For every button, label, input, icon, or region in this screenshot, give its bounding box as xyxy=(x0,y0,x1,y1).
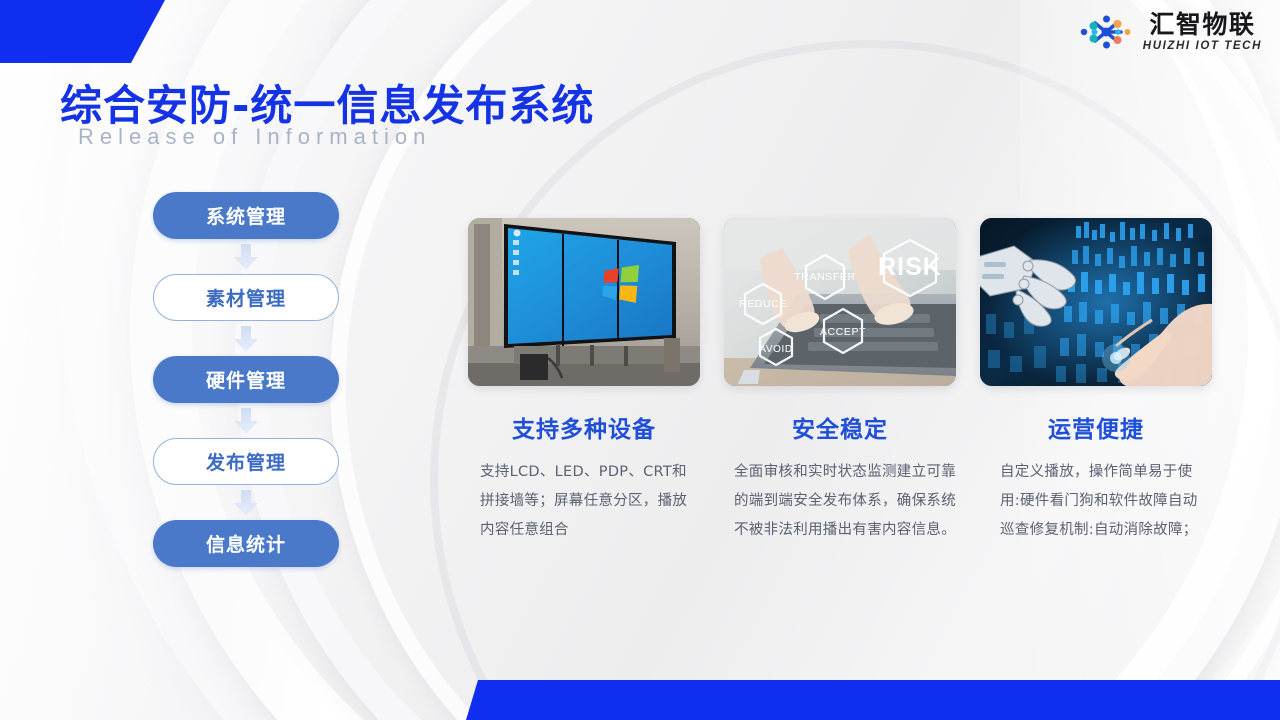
flow-step-label: 发布管理 xyxy=(206,448,286,475)
brand-name-cn: 汇智物联 xyxy=(1149,12,1255,37)
flow-step-information-statistics[interactable]: 信息统计 xyxy=(153,520,339,567)
feature-card: RISK TRANSFER REDUCE ACCEPT AVOID 安全稳定 全… xyxy=(724,218,956,545)
flow-step-label: 硬件管理 xyxy=(206,366,286,393)
video-wall-image xyxy=(468,218,700,386)
corner-band-bottom-right xyxy=(466,680,1280,720)
svg-text:AVOID: AVOID xyxy=(759,344,792,355)
flow-arrow-3 xyxy=(153,403,339,438)
arrow-down-icon xyxy=(233,407,259,435)
risk-management-image: RISK TRANSFER REDUCE ACCEPT AVOID xyxy=(724,218,956,386)
brand-name-en: HUIZHI IOT TECH xyxy=(1143,41,1262,53)
molecule-network-icon xyxy=(1078,12,1134,52)
process-flow: 系统管理 素材管理 硬件管理 发布管理 xyxy=(153,192,339,567)
flow-step-material-management[interactable]: 素材管理 xyxy=(153,274,339,321)
svg-text:ACCEPT: ACCEPT xyxy=(820,326,866,338)
flow-step-label: 信息统计 xyxy=(206,530,286,557)
arrow-down-icon xyxy=(233,489,259,517)
feature-card: 运营便捷 自定义播放，操作简单易于使用:硬件看门狗和软件故障自动巡查修复机制:自… xyxy=(980,218,1212,545)
flow-arrow-1 xyxy=(153,239,339,274)
feature-card-body: 自定义播放，操作简单易于使用:硬件看门狗和软件故障自动巡查修复机制:自动消除故障… xyxy=(980,458,1212,545)
page-subtitle: Release of Information xyxy=(78,124,431,150)
risk-hexagons-illustration: RISK TRANSFER REDUCE ACCEPT AVOID xyxy=(724,218,956,386)
arrow-down-icon xyxy=(233,243,259,271)
feature-card: 支持多种设备 支持LCD、LED、PDP、CRT和拼接墙等；屏幕任意分区，播放内… xyxy=(468,218,700,545)
brand-logo-text: 汇智物联 HUIZHI IOT TECH xyxy=(1143,12,1262,53)
flow-arrow-4 xyxy=(153,485,339,520)
feature-card-body: 全面审核和实时状态监测建立可靠的端到端安全发布体系，确保系统不被非法利用播出有害… xyxy=(724,458,956,545)
feature-card-list: 支持多种设备 支持LCD、LED、PDP、CRT和拼接墙等；屏幕任意分区，播放内… xyxy=(468,218,1212,545)
robot-human-hand-illustration xyxy=(980,218,1212,386)
video-wall-illustration xyxy=(468,218,700,386)
svg-text:TRANSFER: TRANSFER xyxy=(794,271,855,283)
slide-canvas: 汇智物联 HUIZHI IOT TECH 综合安防-统一信息发布系统 Relea… xyxy=(0,0,1280,720)
feature-card-title: 支持多种设备 xyxy=(468,410,700,444)
flow-step-label: 系统管理 xyxy=(206,202,286,229)
flow-arrow-2 xyxy=(153,321,339,356)
flow-step-hardware-management[interactable]: 硬件管理 xyxy=(153,356,339,403)
flow-step-system-management[interactable]: 系统管理 xyxy=(153,192,339,239)
feature-card-title: 安全稳定 xyxy=(724,410,956,444)
flow-step-publish-management[interactable]: 发布管理 xyxy=(153,438,339,485)
arrow-down-icon xyxy=(233,325,259,353)
svg-text:RISK: RISK xyxy=(878,253,942,281)
feature-card-body: 支持LCD、LED、PDP、CRT和拼接墙等；屏幕任意分区，播放内容任意组合 xyxy=(468,458,700,545)
brand-logo: 汇智物联 HUIZHI IOT TECH xyxy=(1078,12,1262,53)
flow-step-label: 素材管理 xyxy=(206,284,286,311)
ai-touch-image xyxy=(980,218,1212,386)
svg-text:REDUCE: REDUCE xyxy=(739,298,787,310)
feature-card-title: 运营便捷 xyxy=(980,410,1212,444)
